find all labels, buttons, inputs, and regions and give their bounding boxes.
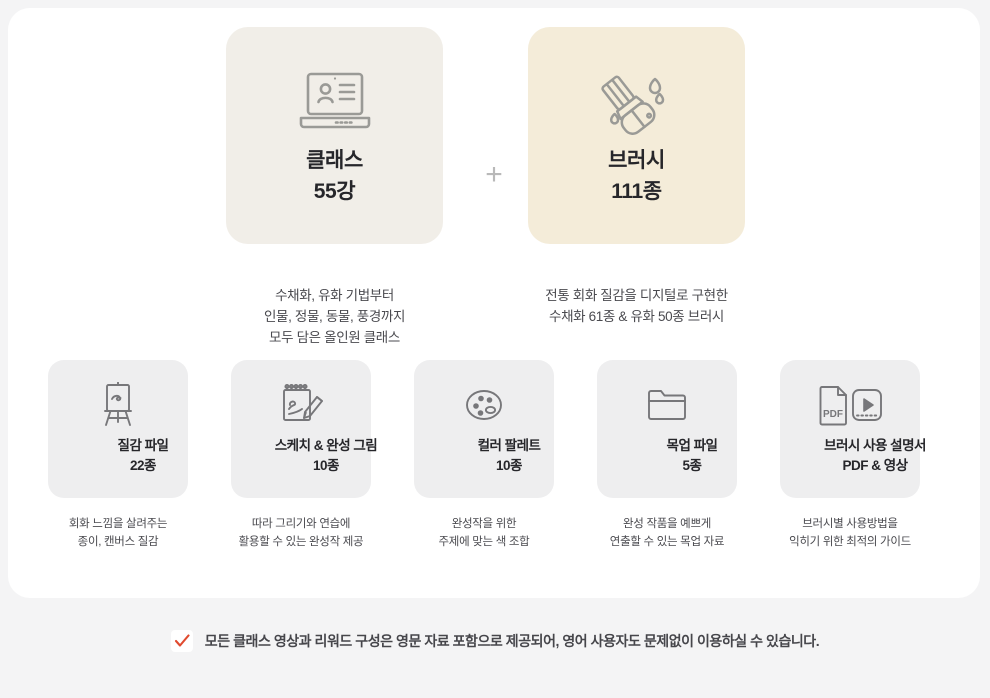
hero-card-class[interactable]: 클래스 55강 bbox=[226, 27, 443, 244]
feature-desc-line: 회화 느낌을 살려주는 bbox=[18, 515, 218, 533]
feature-item[interactable]: PDF 브러시 사용 설명서 PDF & 영상 브러시별 사용방법을 익히기 위… bbox=[780, 360, 920, 551]
feature-title: 스케치 & 완성 그림 bbox=[231, 436, 421, 456]
feature-desc-line: 주제에 맞는 색 조합 bbox=[384, 533, 584, 551]
pdf-and-video-icon: PDF bbox=[817, 382, 883, 428]
feature-title: 브러시 사용 설명서 bbox=[780, 436, 970, 456]
feature-description: 따라 그리기와 연습에 활용할 수 있는 완성작 제공 bbox=[201, 515, 401, 551]
hero-section: 클래스 55강 + bbox=[0, 27, 972, 247]
footer-note: 모든 클래스 영상과 리워드 구성은 영문 자료 포함으로 제공되어, 영어 사… bbox=[0, 630, 990, 652]
feature-title: 컬러 팔레트 bbox=[414, 436, 604, 456]
feature-description: 완성 작품을 예쁘게 연출할 수 있는 목업 자료 bbox=[567, 515, 767, 551]
feature-count: 22종 bbox=[48, 456, 238, 476]
hero-desc-line: 인물, 정물, 동물, 풍경까지 bbox=[226, 306, 443, 327]
hero-desc-line: 수채화, 유화 기법부터 bbox=[226, 285, 443, 306]
page-root: 클래스 55강 + bbox=[0, 0, 990, 698]
feature-card[interactable]: 질감 파일 22종 bbox=[48, 360, 188, 498]
feature-title: 목업 파일 bbox=[597, 436, 787, 456]
feature-description: 회화 느낌을 살려주는 종이, 캔버스 질감 bbox=[18, 515, 218, 551]
check-mark-icon bbox=[171, 630, 193, 652]
color-palette-icon bbox=[460, 382, 508, 428]
feature-item[interactable]: 스케치 & 완성 그림 10종 따라 그리기와 연습에 활용할 수 있는 완성작… bbox=[231, 360, 371, 551]
feature-item[interactable]: 컬러 팔레트 10종 완성작을 위한 주제에 맞는 색 조합 bbox=[414, 360, 554, 551]
easel-canvas-icon bbox=[97, 382, 139, 428]
feature-description: 브러시별 사용방법을 익히기 위한 최적의 가이드 bbox=[750, 515, 950, 551]
plus-icon: + bbox=[476, 160, 512, 190]
feature-count: 10종 bbox=[231, 456, 421, 476]
feature-card[interactable]: PDF 브러시 사용 설명서 PDF & 영상 bbox=[780, 360, 920, 498]
feature-desc-line: 완성 작품을 예쁘게 bbox=[567, 515, 767, 533]
feature-count: PDF & 영상 bbox=[780, 456, 970, 476]
feature-card[interactable]: 컬러 팔레트 10종 bbox=[414, 360, 554, 498]
hero-desc-line: 전통 회화 질감을 디지털로 구현한 bbox=[528, 285, 745, 306]
feature-title: 질감 파일 bbox=[48, 436, 238, 456]
hero-desc-line: 모두 담은 올인원 클래스 bbox=[226, 327, 443, 348]
feature-desc-line: 완성작을 위한 bbox=[384, 515, 584, 533]
footer-note-text: 모든 클래스 영상과 리워드 구성은 영문 자료 포함으로 제공되어, 영어 사… bbox=[205, 630, 819, 652]
feature-card[interactable]: 스케치 & 완성 그림 10종 bbox=[231, 360, 371, 498]
feature-card[interactable]: 목업 파일 5종 bbox=[597, 360, 737, 498]
laptop-id-card-icon bbox=[296, 65, 374, 139]
hero-card-count: 111종 bbox=[611, 176, 661, 207]
hero-card-title: 클래스 bbox=[306, 145, 363, 176]
feature-count: 10종 bbox=[414, 456, 604, 476]
hero-card-description: 전통 회화 질감을 디지털로 구현한 수채화 61종 & 유화 50종 브러시 bbox=[528, 285, 745, 327]
feature-desc-line: 종이, 캔버스 질감 bbox=[18, 533, 218, 551]
feature-item[interactable]: 목업 파일 5종 완성 작품을 예쁘게 연출할 수 있는 목업 자료 bbox=[597, 360, 737, 551]
feature-desc-line: 따라 그리기와 연습에 bbox=[201, 515, 401, 533]
hero-card-title: 브러시 bbox=[608, 145, 665, 176]
hero-card-brush[interactable]: 브러시 111종 bbox=[528, 27, 745, 244]
feature-desc-line: 브러시별 사용방법을 bbox=[750, 515, 950, 533]
feature-desc-line: 연출할 수 있는 목업 자료 bbox=[567, 533, 767, 551]
feature-count: 5종 bbox=[597, 456, 787, 476]
hero-card-count: 55강 bbox=[314, 176, 355, 207]
feature-desc-line: 활용할 수 있는 완성작 제공 bbox=[201, 533, 401, 551]
hero-card-description: 수채화, 유화 기법부터 인물, 정물, 동물, 풍경까지 모두 담은 올인원 … bbox=[226, 285, 443, 348]
feature-item[interactable]: 질감 파일 22종 회화 느낌을 살려주는 종이, 캔버스 질감 bbox=[48, 360, 188, 551]
paint-brush-icon bbox=[598, 65, 676, 139]
hero-desc-line: 수채화 61종 & 유화 50종 브러시 bbox=[528, 306, 745, 327]
feature-description: 완성작을 위한 주제에 맞는 색 조합 bbox=[384, 515, 584, 551]
folder-icon bbox=[645, 382, 689, 428]
sketchbook-pencil-icon bbox=[277, 382, 325, 428]
feature-desc-line: 익히기 위한 최적의 가이드 bbox=[750, 533, 950, 551]
svg-text:PDF: PDF bbox=[823, 409, 843, 420]
